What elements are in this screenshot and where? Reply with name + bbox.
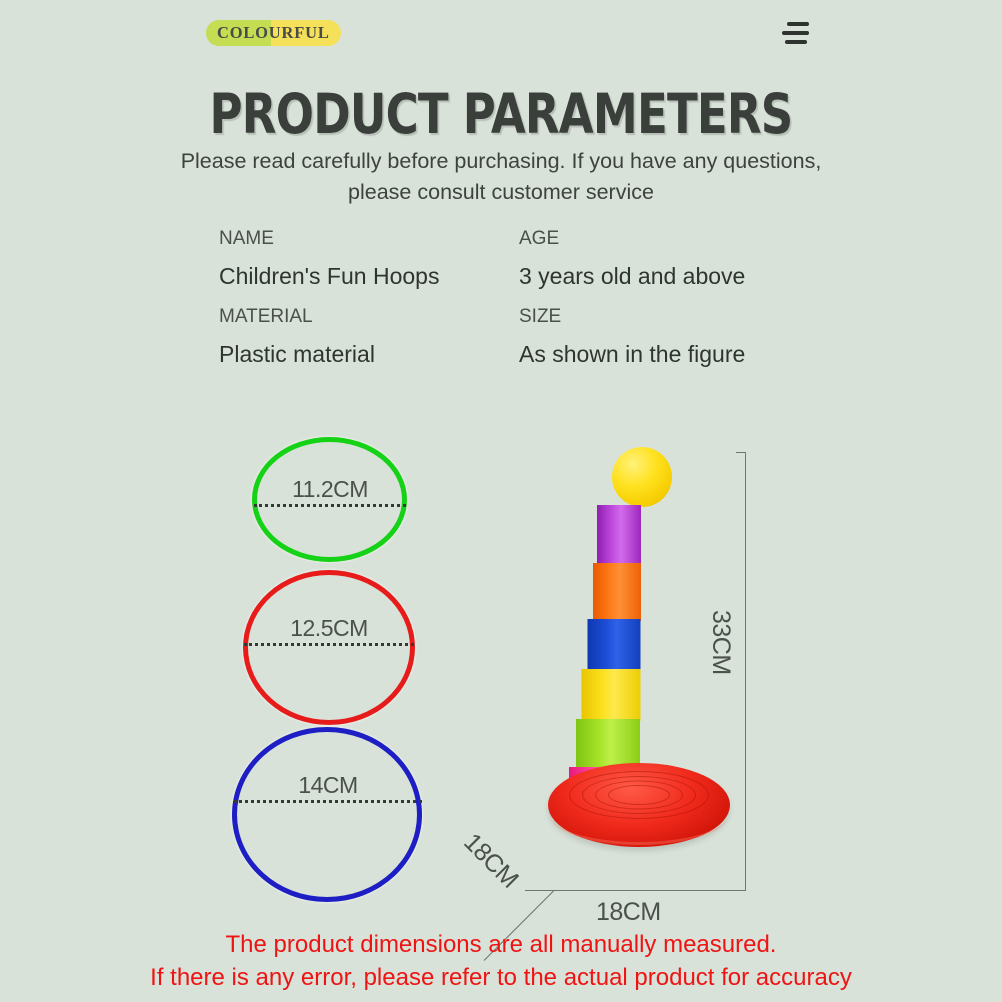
- orange-segment: [593, 563, 641, 621]
- page-subtitle: Please read carefully before purchasing.…: [0, 146, 1002, 208]
- blue-hoop: [232, 727, 422, 902]
- blue-segment: [588, 619, 641, 671]
- yellow-ball-top: [612, 447, 672, 507]
- green-segment: [576, 719, 640, 769]
- blue-hoop-dimension-label: 14CM: [298, 772, 357, 799]
- disclaimer-line-2: If there is any error, please refer to t…: [0, 961, 1002, 994]
- spec-value: As shown in the figure: [519, 341, 819, 368]
- height-measurement-tick: [736, 452, 746, 453]
- spec-cell-age: AGE 3 years old and above: [519, 228, 819, 290]
- red-base: [548, 763, 730, 847]
- menu-bar-top: [787, 22, 809, 26]
- disclaimer: The product dimensions are all manually …: [0, 928, 1002, 994]
- spec-cell-size: SIZE As shown in the figure: [519, 306, 819, 368]
- spec-value: Plastic material: [219, 341, 519, 368]
- green-hoop-dimension: 11.2CM: [254, 476, 406, 507]
- diameter-line: [234, 800, 422, 803]
- spec-value: 3 years old and above: [519, 263, 819, 290]
- spec-value: Children's Fun Hoops: [219, 263, 519, 290]
- spec-row: NAME Children's Fun Hoops AGE 3 years ol…: [219, 228, 819, 290]
- subtitle-line-2: please consult customer service: [0, 177, 1002, 208]
- page-title: PRODUCT PARAMETERS: [90, 82, 912, 146]
- spec-label: AGE: [519, 228, 819, 250]
- spec-label: NAME: [219, 228, 519, 250]
- menu-bar-bottom: [785, 40, 807, 44]
- brand-logo[interactable]: COLOURFUL: [206, 20, 341, 46]
- diameter-line: [254, 504, 406, 507]
- height-label: 33CM: [706, 610, 735, 675]
- spec-label: SIZE: [519, 306, 819, 328]
- red-hoop: [243, 570, 415, 725]
- width-measurement-line: [525, 890, 746, 891]
- yellow-segment: [582, 669, 641, 721]
- spec-row: MATERIAL Plastic material SIZE As shown …: [219, 306, 819, 368]
- disclaimer-line-1: The product dimensions are all manually …: [0, 928, 1002, 961]
- base-rim: [549, 783, 729, 845]
- menu-bar-middle: [782, 31, 809, 35]
- red-hoop-dimension: 12.5CM: [244, 615, 414, 646]
- green-hoop-dimension-label: 11.2CM: [292, 476, 368, 503]
- base-depth-label: 18CM: [457, 828, 523, 894]
- brand-logo-text: COLOURFUL: [217, 23, 330, 43]
- hamburger-menu-icon[interactable]: [782, 20, 812, 46]
- spec-cell-name: NAME Children's Fun Hoops: [219, 228, 519, 290]
- purple-segment: [597, 505, 641, 565]
- red-hoop-dimension-label: 12.5CM: [290, 615, 368, 642]
- spec-cell-material: MATERIAL Plastic material: [219, 306, 519, 368]
- height-measurement-line: [745, 452, 746, 890]
- spec-label: MATERIAL: [219, 306, 519, 328]
- diameter-line: [244, 643, 414, 646]
- base-width-label: 18CM: [596, 898, 661, 927]
- blue-hoop-dimension: 14CM: [234, 772, 422, 803]
- product-parameters-page: COLOURFUL PRODUCT PARAMETERS Please read…: [0, 0, 1002, 1002]
- subtitle-line-1: Please read carefully before purchasing.…: [0, 146, 1002, 177]
- spec-table: NAME Children's Fun Hoops AGE 3 years ol…: [219, 228, 819, 384]
